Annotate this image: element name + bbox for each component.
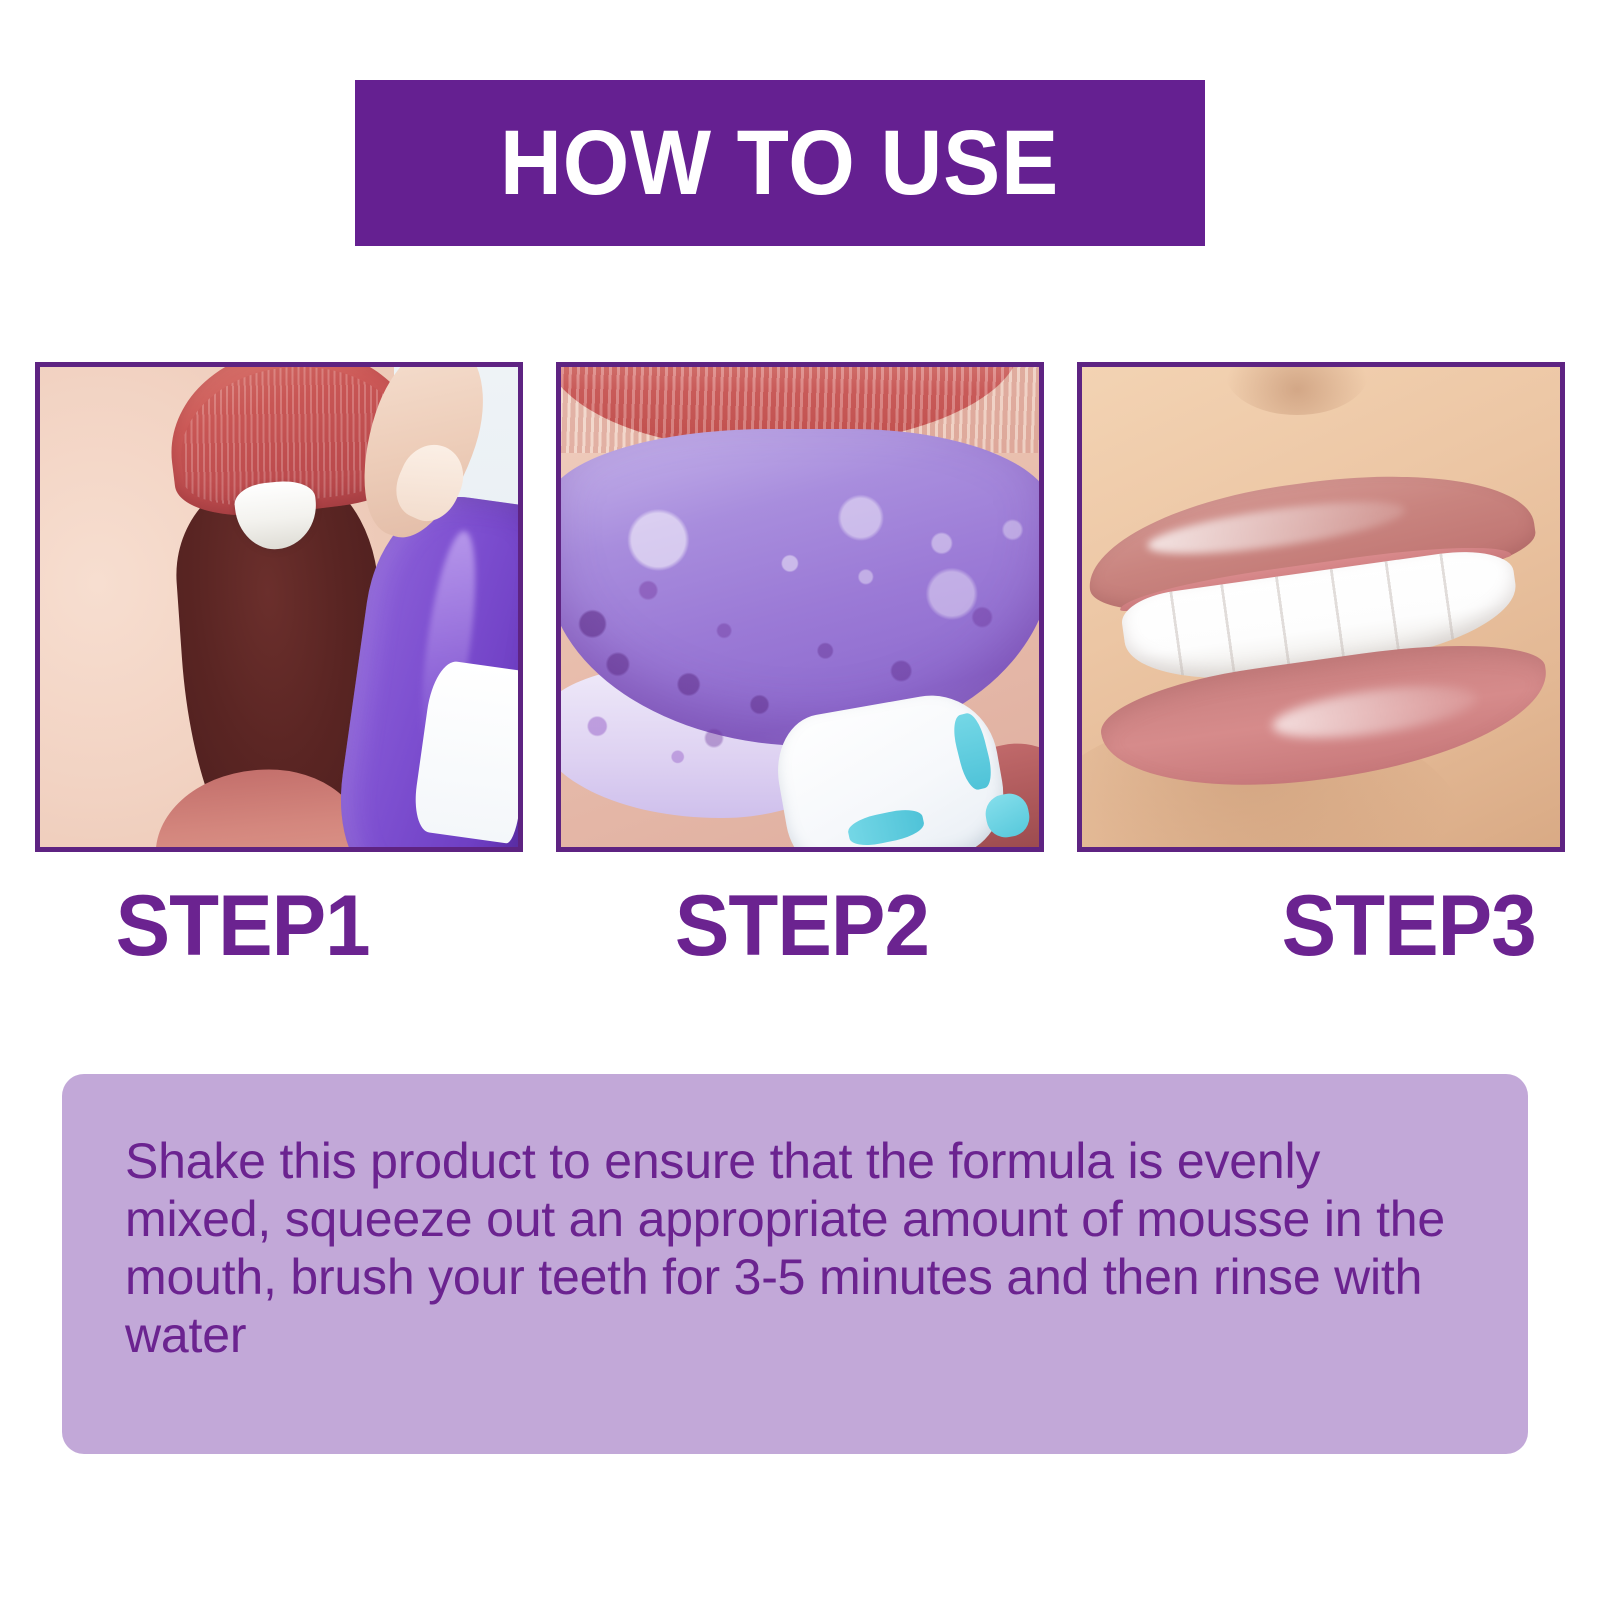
step-2-photo	[561, 367, 1039, 847]
step-1-photo	[40, 367, 518, 847]
header-banner: HOW TO USE	[355, 80, 1205, 246]
page-title: HOW TO USE	[500, 117, 1059, 209]
step-2-image-card	[556, 362, 1044, 852]
step-1-image-card	[35, 362, 523, 852]
step-2-label: STEP2	[568, 876, 1032, 976]
step-1-label: STEP1	[47, 876, 511, 976]
how-to-use-infographic: HOW TO USE	[0, 0, 1600, 1600]
step-3-image-card	[1077, 362, 1565, 852]
step-labels-row: STEP1 STEP2 STEP3	[35, 876, 1565, 976]
instruction-text: Shake this product to ensure that the fo…	[125, 1132, 1478, 1364]
step-3-label: STEP3	[1089, 876, 1553, 976]
instruction-panel: Shake this product to ensure that the fo…	[62, 1074, 1528, 1454]
steps-image-row	[35, 362, 1565, 852]
step-3-photo	[1082, 367, 1560, 847]
